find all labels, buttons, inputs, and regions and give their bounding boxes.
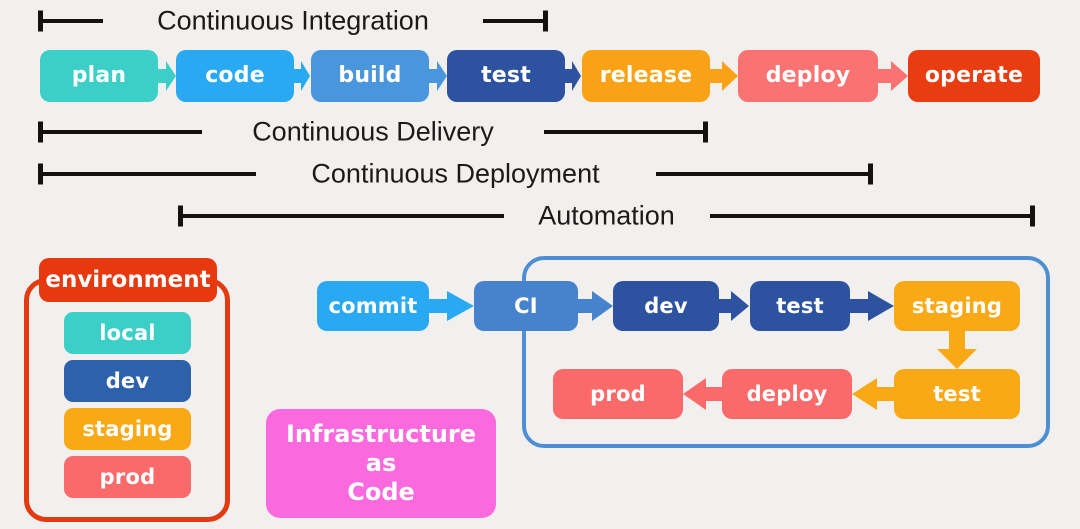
bracket-label: Continuous Integration (157, 6, 429, 37)
arrow-head (722, 61, 738, 91)
arrow-head (572, 61, 581, 91)
stage-label: plan (72, 64, 127, 87)
arrow-head (937, 349, 977, 369)
stage-label: deploy (766, 64, 851, 87)
arrow-head (437, 61, 447, 91)
arrow-head (592, 291, 613, 321)
cd-node-commit[interactable]: commit (317, 281, 429, 331)
arrow-head (683, 378, 706, 410)
environment-item-prod[interactable]: prod (64, 456, 191, 498)
cd-node-staging[interactable]: staging (894, 281, 1020, 331)
infrastructure-as-code-box: Infrastructure as Code (266, 409, 496, 518)
bracket-continuous-delivery: Continuous Delivery (38, 115, 708, 149)
environment-header: environment (39, 258, 217, 302)
arrow-head (731, 291, 749, 321)
stage-code[interactable]: code (176, 50, 294, 102)
cd-node-label: prod (590, 383, 646, 405)
arrow-head (301, 61, 310, 91)
arrow-staging-to-test (937, 331, 977, 369)
stage-label: code (205, 64, 265, 87)
stage-label: release (600, 64, 693, 87)
cd-node-label: commit (328, 295, 417, 317)
cd-node-ci[interactable]: CI (474, 281, 578, 331)
bracket-line-right (483, 19, 548, 23)
bracket-automation: Automation (178, 199, 1035, 233)
arrow-head (891, 61, 908, 91)
bracket-line-right (656, 172, 874, 176)
environment-item-label: dev (106, 370, 150, 392)
cd-node-label: test (776, 295, 824, 317)
cd-node-prod[interactable]: prod (553, 369, 683, 419)
stage-operate[interactable]: operate (908, 50, 1040, 102)
environment-item-label: local (99, 322, 155, 344)
cd-node-test2[interactable]: test (894, 369, 1020, 419)
bracket-line-left (38, 130, 202, 134)
cd-node-label: dev (644, 295, 688, 317)
environment-item-label: prod (100, 466, 156, 488)
iac-line-1: Infrastructure (286, 420, 476, 449)
bracket-line-left (38, 19, 103, 23)
iac-line-2: as (366, 449, 396, 478)
arrow-head (852, 378, 877, 410)
stage-label: operate (925, 64, 1023, 87)
devops-diagram: Continuous IntegrationContinuous Deliver… (0, 0, 1080, 529)
bracket-label: Continuous Deployment (311, 159, 599, 190)
stage-release[interactable]: release (582, 50, 710, 102)
bracket-line-left (38, 172, 256, 176)
stage-build[interactable]: build (311, 50, 429, 102)
cd-node-label: deploy (747, 383, 828, 405)
cd-node-label: test (933, 383, 981, 405)
cd-node-test1[interactable]: test (750, 281, 850, 331)
bracket-continuous-deployment: Continuous Deployment (38, 157, 873, 191)
stage-label: test (481, 64, 531, 87)
stage-deploy[interactable]: deploy (738, 50, 878, 102)
environment-item-label: staging (82, 418, 172, 440)
environment-item-local[interactable]: local (64, 312, 191, 354)
arrow-head (447, 291, 474, 321)
bracket-continuous-integration: Continuous Integration (38, 4, 548, 38)
bracket-label: Continuous Delivery (252, 117, 494, 148)
bracket-label: Automation (538, 201, 675, 232)
stage-label: build (338, 64, 401, 87)
bracket-line-right (710, 214, 1036, 218)
stage-test[interactable]: test (447, 50, 565, 102)
cd-node-deploy[interactable]: deploy (722, 369, 852, 419)
cd-node-label: CI (514, 295, 538, 317)
arrow-head (166, 61, 176, 91)
bracket-line-right (544, 130, 708, 134)
environment-item-dev[interactable]: dev (64, 360, 191, 402)
iac-line-3: Code (347, 478, 415, 507)
arrow-head (868, 291, 894, 321)
cd-node-label: staging (912, 295, 1002, 317)
bracket-line-left (178, 214, 504, 218)
cd-node-dev[interactable]: dev (613, 281, 719, 331)
stage-plan[interactable]: plan (40, 50, 158, 102)
environment-item-staging[interactable]: staging (64, 408, 191, 450)
